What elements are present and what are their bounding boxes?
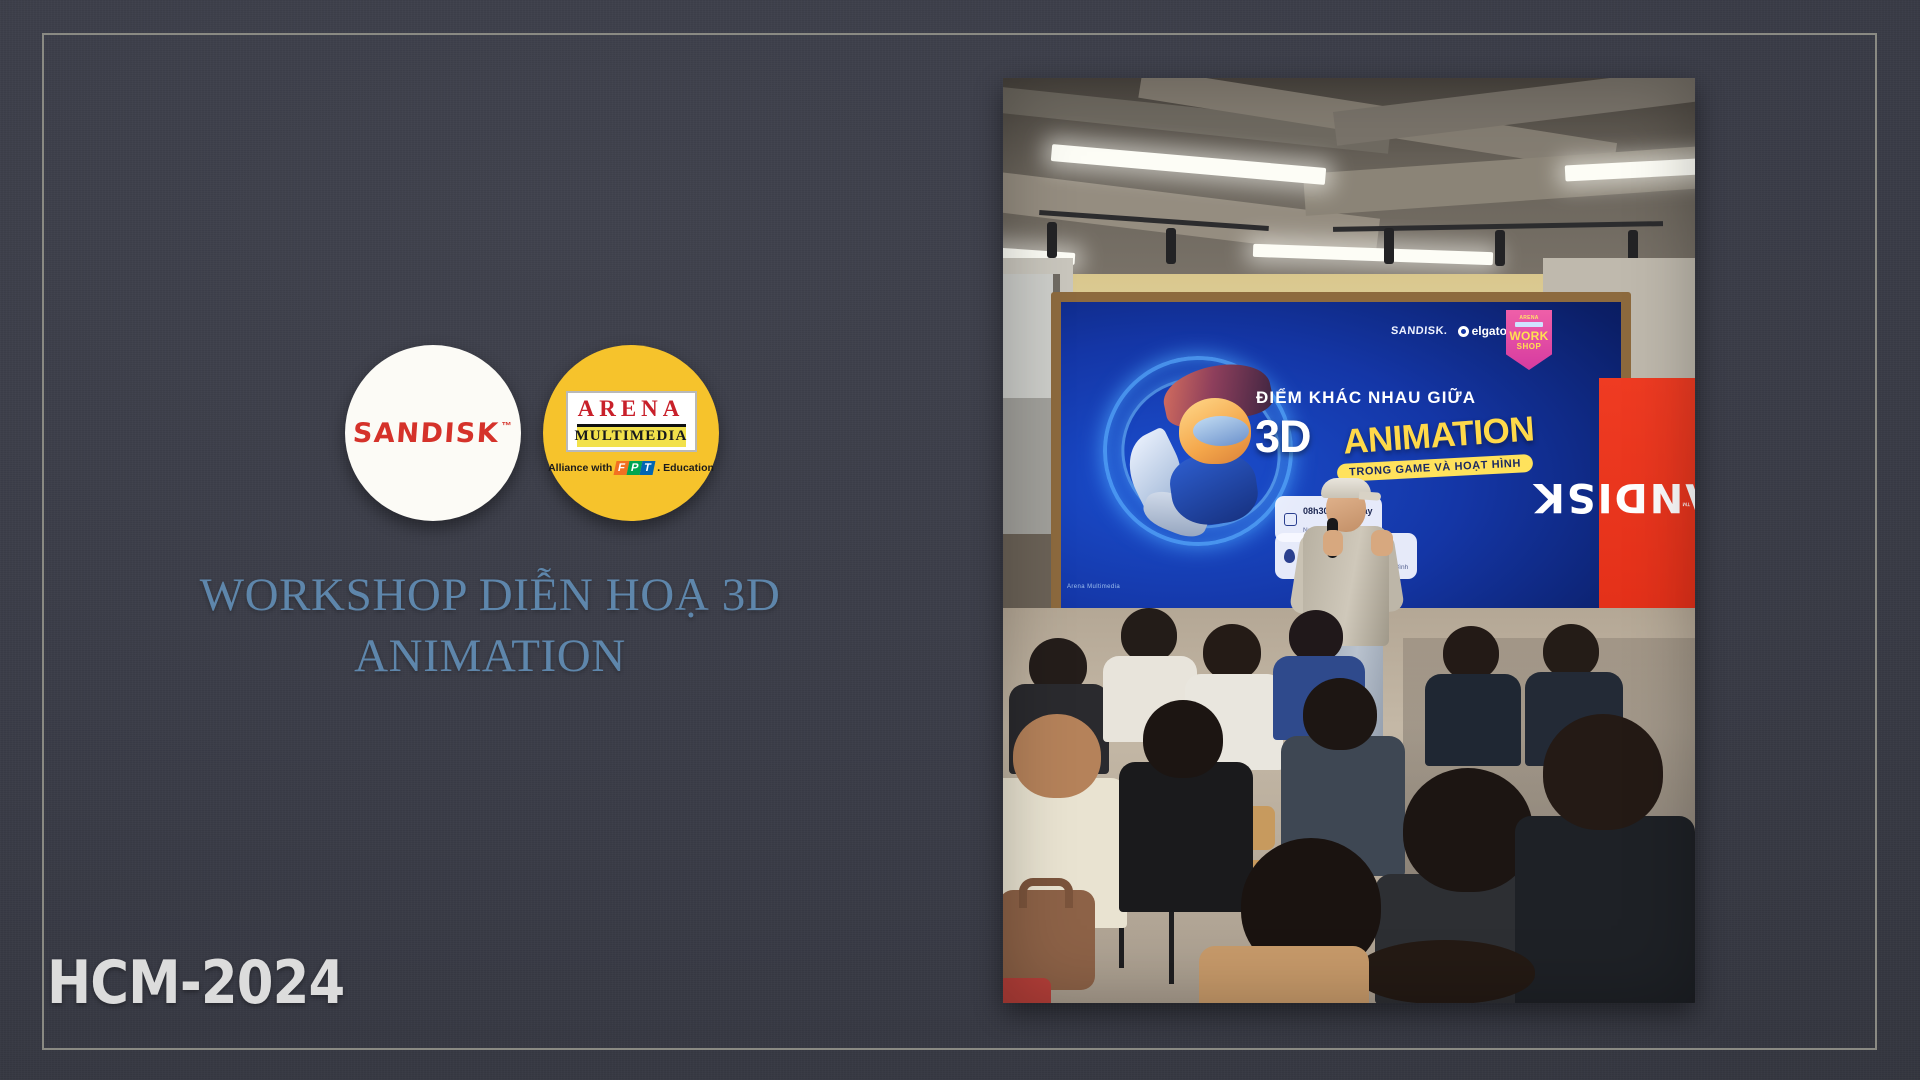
arena-subtitle: MULTIMEDIA xyxy=(574,428,687,445)
sandisk-wordmark: SANDISK ™ xyxy=(353,418,512,449)
alliance-prefix: Alliance with xyxy=(548,462,612,474)
fpt-dot: . xyxy=(657,462,660,474)
arena-multimedia-logo: ARENA MULTIMEDIA Alliance with F P T . E… xyxy=(543,345,719,521)
page-title: WORKSHOP DIỄN HOẠ 3D ANIMATION xyxy=(90,565,890,687)
arena-subtitle-band: MULTIMEDIA xyxy=(577,427,686,447)
photo-vignette xyxy=(1003,78,1695,1003)
arena-plate: ARENA MULTIMEDIA xyxy=(566,391,697,451)
sandisk-logo-text: SANDISK xyxy=(352,418,500,449)
workshop-photo: SANDISK. elgato ARENA WORK SHOP ĐIỂM KHÁ… xyxy=(1003,78,1695,1003)
fpt-letter-t: T xyxy=(640,461,656,475)
fpt-logo-icon: F P T xyxy=(615,461,654,475)
logo-row: SANDISK ™ ARENA MULTIMEDIA Alliance with… xyxy=(345,345,719,521)
sandisk-logo: SANDISK ™ xyxy=(345,345,521,521)
sandisk-trademark-icon: ™ xyxy=(502,421,513,432)
arena-alliance-line: Alliance with F P T . Education xyxy=(548,461,714,475)
footer-location-year: HCM-2024 xyxy=(47,948,344,1018)
arena-title: ARENA xyxy=(578,397,685,423)
alliance-suffix: Education xyxy=(663,462,714,474)
